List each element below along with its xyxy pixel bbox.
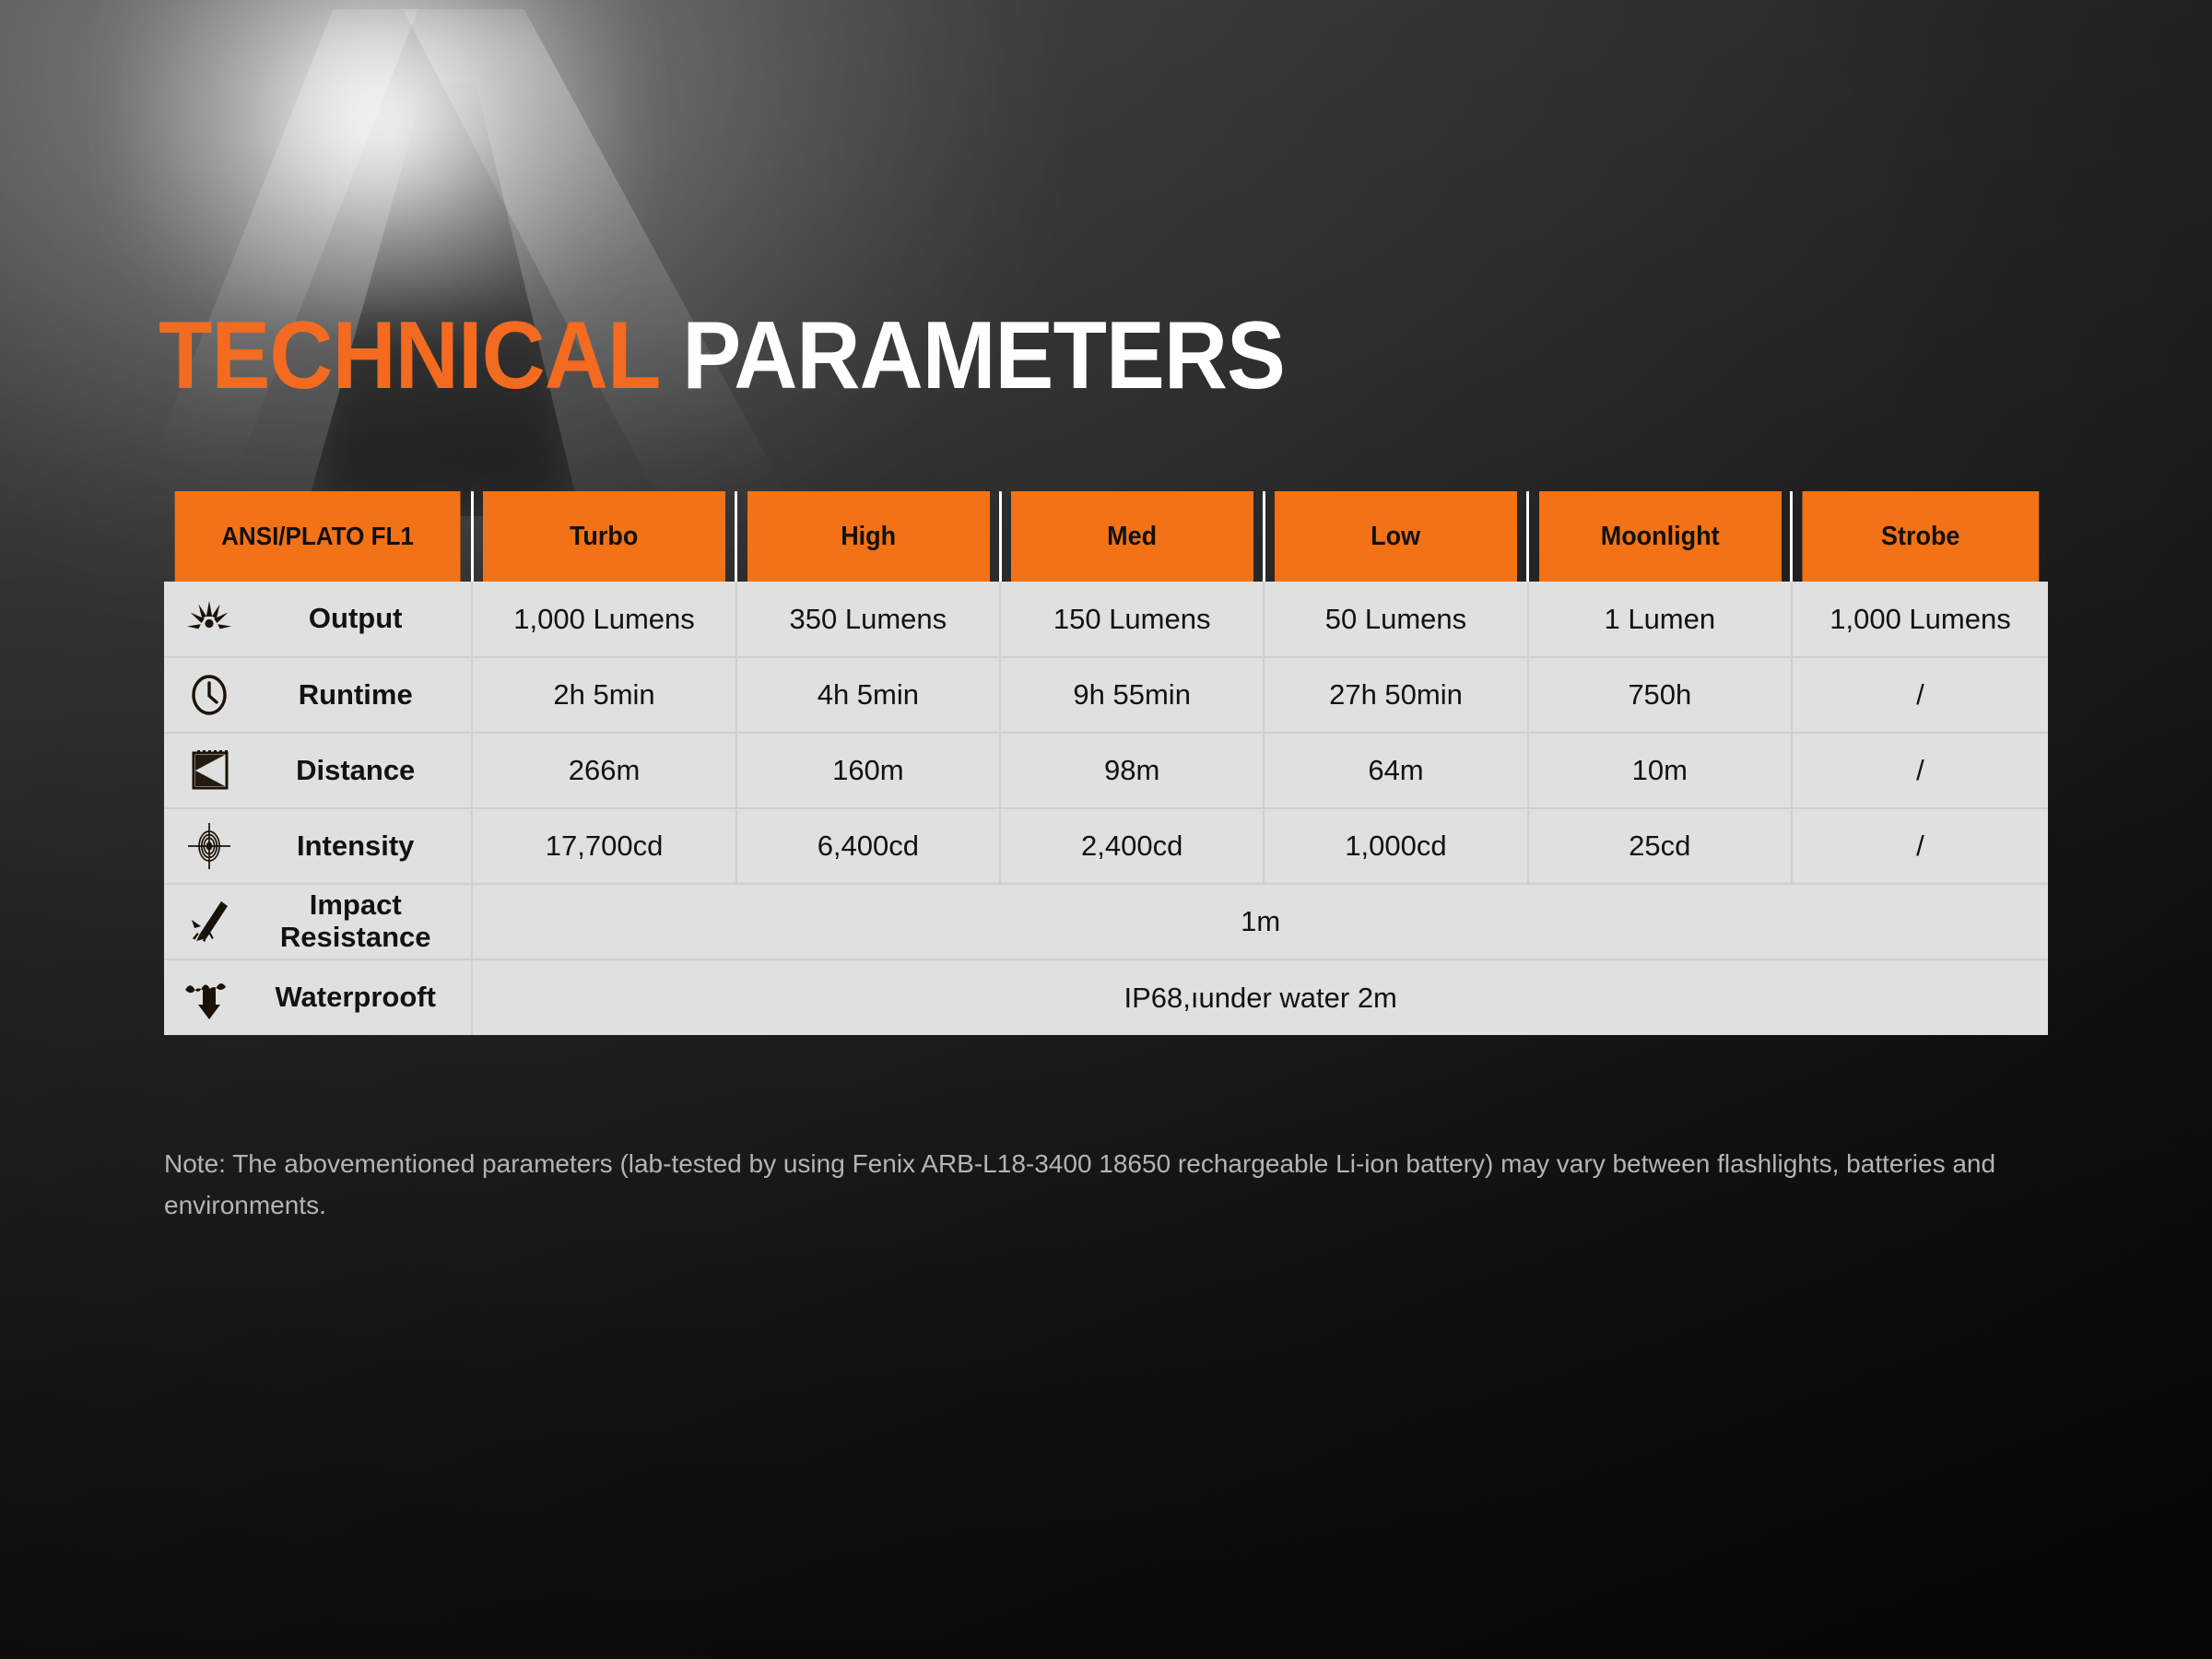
column-header-standard: ANSI/PLATO FL1: [175, 491, 462, 582]
column-header-med: Med: [1009, 491, 1254, 582]
row-label: Intensity: [253, 830, 471, 863]
cell-distance-turbo: 266m: [472, 733, 735, 808]
cell-output-low: 50 Lumens: [1264, 582, 1527, 657]
row-label: ImpactResistance: [253, 889, 471, 953]
cell-runtime-moonlight: 750h: [1528, 657, 1792, 733]
cell-output-moonlight: 1 Lumen: [1528, 582, 1792, 657]
cell-output-turbo: 1,000 Lumens: [472, 582, 735, 657]
waterproof-drop-icon: [181, 970, 238, 1027]
cell-intensity-high: 6,400cd: [736, 808, 1000, 884]
cell-runtime-low: 27h 50min: [1264, 657, 1527, 733]
cell-waterproof-value: IP68,ıunder water 2m: [472, 959, 2048, 1035]
table-row: Waterprooft IP68,ıunder water 2m: [164, 959, 2048, 1035]
table-row: ImpactResistance 1m: [164, 884, 2048, 959]
row-header-output: Output: [164, 582, 472, 657]
table-header-row: ANSI/PLATO FL1 Turbo High Med Low Moonli…: [164, 491, 2048, 582]
row-header-intensity: Intensity: [164, 808, 472, 884]
row-label: Output: [253, 603, 471, 635]
cell-intensity-moonlight: 25cd: [1528, 808, 1792, 884]
cell-intensity-low: 1,000cd: [1264, 808, 1527, 884]
sunburst-icon: [181, 591, 238, 648]
impact-hammer-icon: [181, 893, 238, 950]
cell-runtime-turbo: 2h 5min: [472, 657, 735, 733]
technical-parameters-table: ANSI/PLATO FL1 Turbo High Med Low Moonli…: [164, 491, 2048, 1035]
row-label: Waterprooft: [253, 982, 471, 1014]
table-header: ANSI/PLATO FL1 Turbo High Med Low Moonli…: [164, 491, 2048, 582]
column-header-moonlight: Moonlight: [1537, 491, 1783, 582]
cell-distance-med: 98m: [1000, 733, 1264, 808]
column-header-low: Low: [1273, 491, 1518, 582]
beam-distance-icon: [181, 742, 238, 799]
target-intensity-icon: [181, 818, 238, 875]
table-row: Distance 266m 160m 98m 64m 10m /: [164, 733, 2048, 808]
cell-output-high: 350 Lumens: [736, 582, 1000, 657]
row-label-line1: Impact: [310, 888, 402, 921]
cell-runtime-high: 4h 5min: [736, 657, 1000, 733]
column-header-turbo: Turbo: [481, 491, 726, 582]
cell-distance-high: 160m: [736, 733, 1000, 808]
table-row: Runtime 2h 5min 4h 5min 9h 55min 27h 50m…: [164, 657, 2048, 733]
cell-distance-moonlight: 10m: [1528, 733, 1792, 808]
cell-intensity-strobe: /: [1792, 808, 2048, 884]
clock-icon: [181, 666, 238, 724]
row-header-distance: Distance: [164, 733, 472, 808]
cell-runtime-med: 9h 55min: [1000, 657, 1264, 733]
row-label: Runtime: [253, 679, 471, 712]
row-label-line2: Resistance: [280, 921, 431, 953]
cell-runtime-strobe: /: [1792, 657, 2048, 733]
page-title: TECHNICAL PARAMETERS: [159, 308, 1285, 404]
column-header-strobe: Strobe: [1801, 491, 2040, 582]
cell-intensity-med: 2,400cd: [1000, 808, 1264, 884]
cell-distance-low: 64m: [1264, 733, 1527, 808]
column-header-high: High: [746, 491, 991, 582]
page-title-highlight: TECHNICAL: [159, 302, 659, 409]
page-title-rest: PARAMETERS: [659, 302, 1285, 409]
cell-output-strobe: 1,000 Lumens: [1792, 582, 2048, 657]
table-row: Intensity 17,700cd 6,400cd 2,400cd 1,000…: [164, 808, 2048, 884]
cell-distance-strobe: /: [1792, 733, 2048, 808]
row-header-waterproof: Waterprooft: [164, 959, 472, 1035]
table-row: Output 1,000 Lumens 350 Lumens 150 Lumen…: [164, 582, 2048, 657]
row-header-impact-resistance: ImpactResistance: [164, 884, 472, 959]
cell-impact-resistance-value: 1m: [472, 884, 2048, 959]
table-body: Output 1,000 Lumens 350 Lumens 150 Lumen…: [164, 582, 2048, 1035]
row-header-runtime: Runtime: [164, 657, 472, 733]
row-label: Distance: [253, 755, 471, 787]
cell-intensity-turbo: 17,700cd: [472, 808, 735, 884]
footnote: Note: The abovementioned parameters (lab…: [164, 1143, 2063, 1227]
cell-output-med: 150 Lumens: [1000, 582, 1264, 657]
